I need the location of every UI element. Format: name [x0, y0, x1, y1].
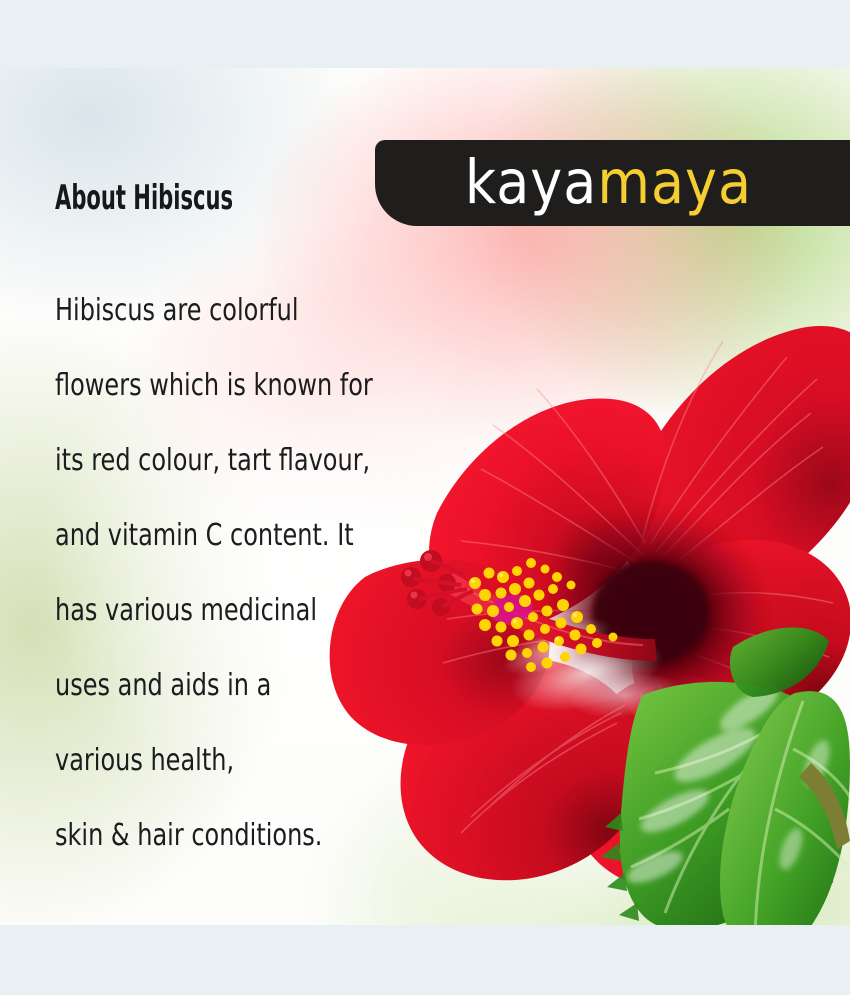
description-line: has various medicinal [55, 596, 351, 671]
page-title: About Hibiscus [55, 181, 233, 215]
description-line: flowers which is known for [55, 371, 351, 446]
description-line: Hibiscus are colorful [55, 296, 351, 371]
brand-logo-part-kaya: kaya [465, 147, 597, 218]
description-line: uses and aids in a [55, 671, 351, 746]
artwork-area: About Hibiscus Hibiscus are colorful flo… [0, 68, 850, 925]
description-line: and vitamin C content. It [55, 521, 351, 596]
brand-logo-part-maya: maya [597, 147, 752, 218]
description-line: various health, [55, 746, 351, 821]
brand-banner: kayamaya [375, 140, 850, 226]
description-line: skin & hair conditions. [55, 821, 351, 896]
brand-logo-wordmark: kayamaya [465, 153, 760, 213]
bottom-margin-band [0, 925, 850, 995]
poster-canvas: About Hibiscus Hibiscus are colorful flo… [0, 0, 850, 995]
top-margin-band [0, 0, 850, 68]
description-text: Hibiscus are colorful flowers which is k… [55, 296, 425, 896]
description-line: its red colour, tart flavour, [55, 446, 351, 521]
